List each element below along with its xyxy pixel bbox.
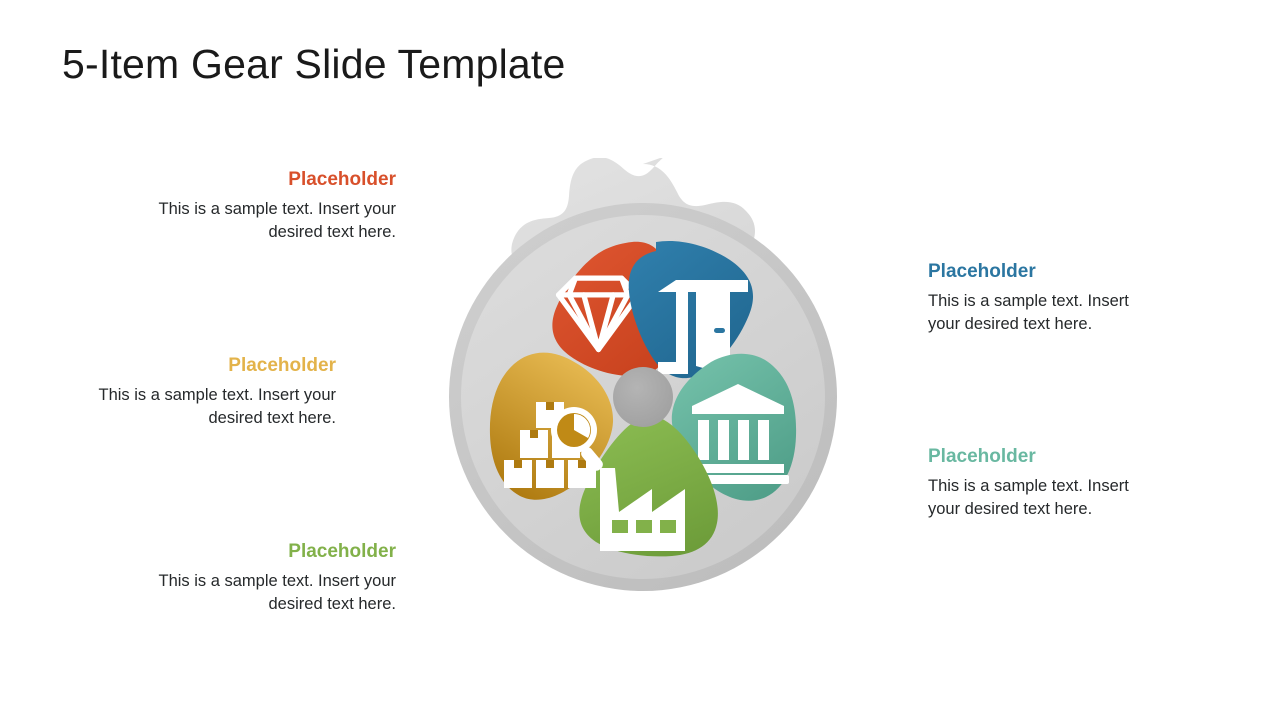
text-block-middle-left[interactable]: Placeholder This is a sample text. Inser… xyxy=(86,355,336,431)
slide-canvas: 5-Item Gear Slide Template Placeholder T… xyxy=(0,0,1280,720)
gear-diagram xyxy=(404,158,882,636)
gear-center-hub xyxy=(613,367,673,427)
text-block-bottom-left[interactable]: Placeholder This is a sample text. Inser… xyxy=(146,541,396,617)
placeholder-heading-5: Placeholder xyxy=(928,446,1164,468)
placeholder-heading-2: Placeholder xyxy=(86,355,336,377)
placeholder-body-5: This is a sample text. Insert your desir… xyxy=(928,475,1164,522)
placeholder-heading-3: Placeholder xyxy=(146,541,396,563)
text-block-top-left[interactable]: Placeholder This is a sample text. Inser… xyxy=(146,169,396,245)
text-block-bottom-right[interactable]: Placeholder This is a sample text. Inser… xyxy=(928,446,1164,522)
placeholder-body-1: This is a sample text. Insert your desir… xyxy=(146,198,396,245)
page-title: 5-Item Gear Slide Template xyxy=(62,41,566,88)
placeholder-heading-4: Placeholder xyxy=(928,261,1164,283)
placeholder-body-3: This is a sample text. Insert your desir… xyxy=(146,570,396,617)
placeholder-body-2: This is a sample text. Insert your desir… xyxy=(86,384,336,431)
text-block-top-right[interactable]: Placeholder This is a sample text. Inser… xyxy=(928,261,1164,337)
placeholder-heading-1: Placeholder xyxy=(146,169,396,191)
gear-diagram-svg xyxy=(404,158,882,636)
placeholder-body-4: This is a sample text. Insert your desir… xyxy=(928,290,1164,337)
